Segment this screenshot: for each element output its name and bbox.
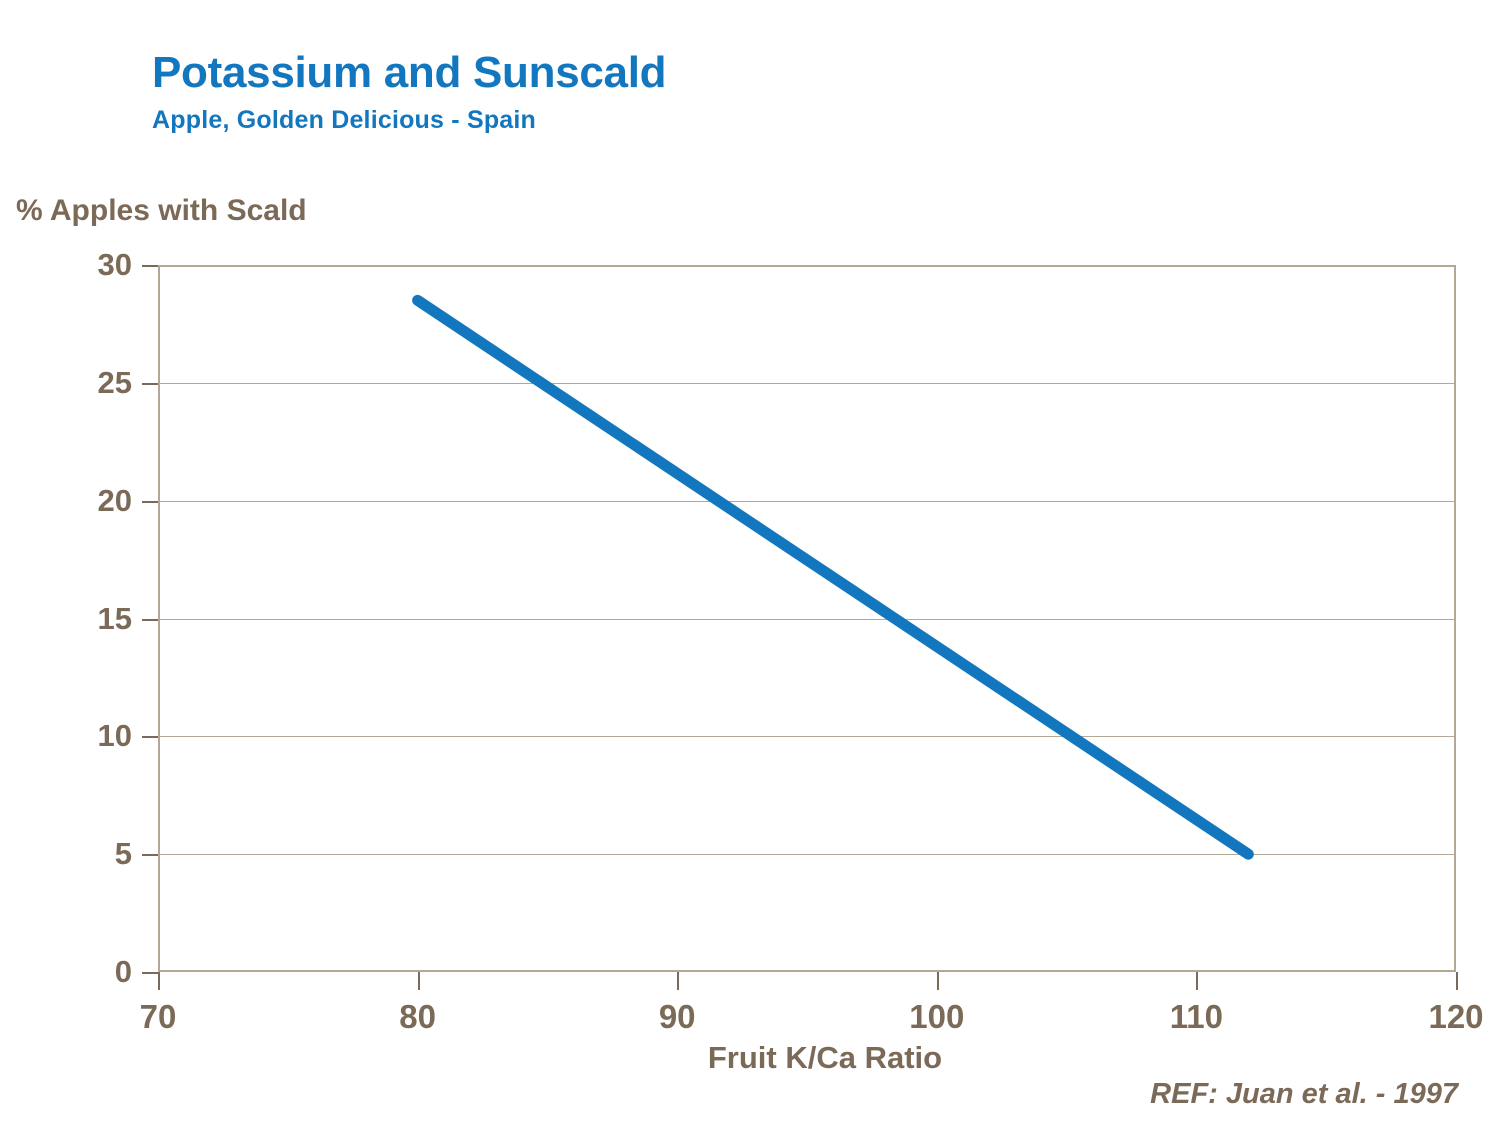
y-tick-25 xyxy=(142,383,158,385)
y-tick-label-15: 15 xyxy=(98,601,132,637)
y-tick-label-20: 20 xyxy=(98,483,132,519)
page-subtitle: Apple, Golden Delicious - Spain xyxy=(152,106,1252,135)
y-tick-5 xyxy=(142,854,158,856)
x-tick-label-90: 90 xyxy=(659,998,696,1036)
y-axis-title: % Apples with Scald xyxy=(16,194,307,228)
gridline-y-10 xyxy=(158,736,1456,737)
x-tick-70 xyxy=(158,972,160,990)
title-block: Potassium and Sunscald Apple, Golden Del… xyxy=(152,50,1252,135)
y-tick-label-30: 30 xyxy=(98,247,132,283)
plot-wrap: 30 25 20 15 10 5 0 70 80 90 100 110 120 xyxy=(158,265,1456,972)
x-tick-label-120: 120 xyxy=(1428,998,1483,1036)
x-tick-80 xyxy=(418,972,420,990)
x-tick-120 xyxy=(1456,972,1458,990)
x-tick-label-70: 70 xyxy=(140,998,177,1036)
y-tick-10 xyxy=(142,736,158,738)
y-tick-label-25: 25 xyxy=(98,365,132,401)
x-tick-110 xyxy=(1196,972,1198,990)
reference-note: REF: Juan et al. - 1997 xyxy=(1150,1078,1458,1111)
y-tick-label-10: 10 xyxy=(98,718,132,754)
x-tick-100 xyxy=(937,972,939,990)
y-tick-15 xyxy=(142,619,158,621)
y-tick-label-5: 5 xyxy=(115,836,132,872)
y-tick-0 xyxy=(142,972,158,974)
gridline-y-25 xyxy=(158,383,1456,384)
x-axis-title-text: Fruit K/Ca Ratio xyxy=(708,1040,942,1076)
gridline-y-5 xyxy=(158,854,1456,855)
x-tick-90 xyxy=(677,972,679,990)
x-tick-label-110: 110 xyxy=(1170,998,1223,1036)
x-axis-title: Fruit K/Ca Ratio xyxy=(0,1040,1500,1076)
gridline-y-15 xyxy=(158,619,1456,620)
x-tick-label-100: 100 xyxy=(909,998,964,1036)
y-tick-label-0: 0 xyxy=(115,954,132,990)
y-tick-30 xyxy=(142,265,158,267)
gridline-y-20 xyxy=(158,501,1456,502)
page-title: Potassium and Sunscald xyxy=(152,50,1252,96)
x-tick-label-80: 80 xyxy=(399,998,436,1036)
slide-canvas: Potassium and Sunscald Apple, Golden Del… xyxy=(0,0,1500,1125)
y-tick-20 xyxy=(142,501,158,503)
